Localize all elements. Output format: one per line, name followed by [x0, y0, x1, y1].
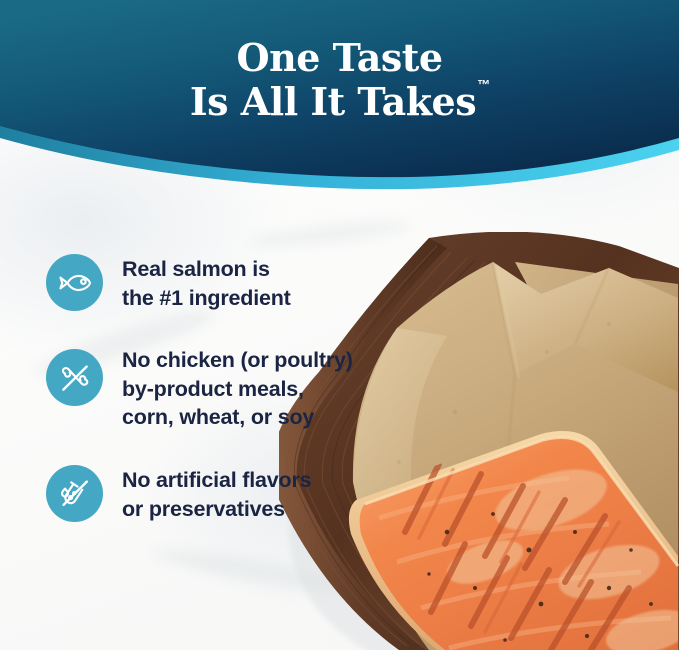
list-item-text: No chicken (or poultry) by-product meals… — [122, 343, 353, 432]
product-feature-banner: One Taste Is All It Takes™ Real salmon i… — [0, 0, 679, 650]
list-item: No chicken (or poultry) by-product meals… — [46, 343, 386, 432]
feature-bullet-list: Real salmon is the #1 ingredient — [46, 252, 386, 523]
list-item-text: No artificial flavors or preservatives — [122, 463, 311, 523]
list-item-text: Real salmon is the #1 ingredient — [122, 252, 291, 312]
no-test-tube-icon — [46, 465, 103, 522]
header-banner: One Taste Is All It Takes™ — [0, 0, 679, 205]
list-item: No artificial flavors or preservatives — [46, 463, 386, 523]
no-bone-icon — [46, 349, 103, 406]
fish-icon — [46, 254, 103, 311]
list-item: Real salmon is the #1 ingredient — [46, 252, 386, 312]
